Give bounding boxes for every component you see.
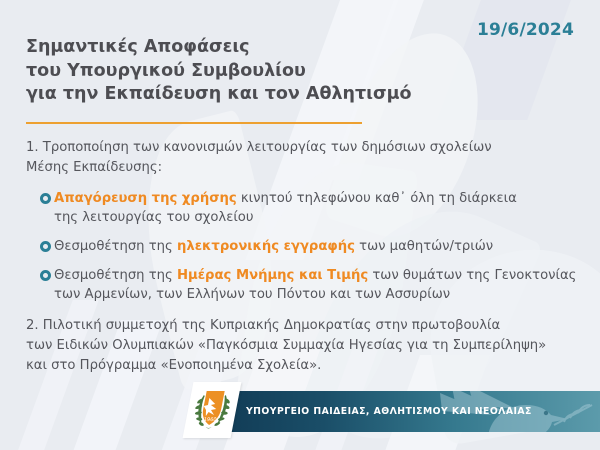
ring-bullet-icon (40, 241, 51, 252)
publication-date: 19/6/2024 (477, 20, 574, 40)
title-divider (26, 122, 362, 124)
bullet-list: Απαγόρευση της χρήσης κινητού τηλεφώνου … (26, 189, 578, 304)
item-1-line-2: Μέσης Εκπαίδευσης: (26, 158, 578, 178)
ring-bullet-icon (40, 193, 51, 204)
item-1-paragraph: 1. Τροποποίηση των κανονισμών λειτουργία… (26, 138, 578, 178)
footer: ΥΠΟΥΡΓΕΙΟ ΠΑΙΔΕΙΑΣ, ΑΘΛΗΤΙΣΜΟΥ ΚΑΙ ΝΕΟΛΑ… (0, 380, 600, 450)
item-2-paragraph: 2. Πιλοτική συμμετοχή της Κυπριακής Δημο… (26, 316, 578, 376)
bullet-1-line-1: Απαγόρευση της χρήσης κινητού τηλεφώνου … (54, 189, 578, 208)
bullet-1-text: Απαγόρευση της χρήσης κινητού τηλεφώνου … (54, 189, 578, 227)
ring-bullet-icon (40, 270, 51, 281)
bullet-1-highlight: Απαγόρευση της χρήσης (54, 191, 237, 206)
bullet-2-highlight: ηλεκτρονικής εγγραφής (177, 239, 355, 254)
list-item: Απαγόρευση της χρήσης κινητού τηλεφώνου … (26, 189, 578, 227)
item-2-line-1: 2. Πιλοτική συμμετοχή της Κυπριακής Δημο… (26, 316, 578, 336)
bullet-3-text: Θεσμοθέτηση της Ημέρας Μνήμης και Τιμής … (54, 266, 578, 304)
bullet-3-pre: Θεσμοθέτηση της (54, 268, 177, 283)
svg-text:1960: 1960 (203, 417, 217, 423)
bullet-1-rest: κινητού τηλεφώνου καθ᾽ όλη τη διάρκεια (237, 191, 517, 206)
bullet-3-rest: των θυμάτων της Γενοκτονίας (368, 268, 576, 283)
bullet-1-line-2: της λειτουργίας του σχολείου (54, 208, 578, 227)
content-body: 1. Τροποποίηση των κανονισμών λειτουργία… (26, 138, 578, 376)
ministry-name: ΥΠΟΥΡΓΕΙΟ ΠΑΙΔΕΙΑΣ, ΑΘΛΗΤΙΣΜΟΥ ΚΑΙ ΝΕΟΛΑ… (246, 391, 532, 432)
bullet-3-line-2: των Αρμενίων, των Ελλήνων του Πόντου και… (54, 285, 578, 304)
title-line-2: του Υπουργικού Συμβουλίου (26, 60, 446, 84)
bullet-2-text: Θεσμοθέτηση της ηλεκτρονικής εγγραφής τω… (54, 237, 578, 256)
bullet-3-line-1: Θεσμοθέτηση της Ημέρας Μνήμης και Τιμής … (54, 266, 578, 285)
item-1-line-1: 1. Τροποποίηση των κανονισμών λειτουργία… (26, 138, 578, 158)
bullet-2-line-1: Θεσμοθέτηση της ηλεκτρονικής εγγραφής τω… (54, 237, 578, 256)
page-title: Σημαντικές Αποφάσεις του Υπουργικού Συμβ… (26, 36, 446, 107)
bullet-2-rest: των μαθητών/τριών (355, 239, 493, 254)
bullet-3-highlight: Ημέρας Μνήμης και Τιμής (177, 268, 368, 283)
item-2-line-2: των Ειδικών Ολυμπιακών «Παγκόσμια Συμμαχ… (26, 336, 578, 356)
announcement-card: 19/6/2024 Σημαντικές Αποφάσεις του Υπουρ… (0, 0, 600, 450)
list-item: Θεσμοθέτηση της ηλεκτρονικής εγγραφής τω… (26, 237, 578, 256)
bullet-2-pre: Θεσμοθέτηση της (54, 239, 177, 254)
ministry-banner: ΥΠΟΥΡΓΕΙΟ ΠΑΙΔΕΙΑΣ, ΑΘΛΗΤΙΣΜΟΥ ΚΑΙ ΝΕΟΛΑ… (216, 391, 600, 432)
list-item: Θεσμοθέτηση της Ημέρας Μνήμης και Τιμής … (26, 266, 578, 304)
item-2-line-3: και στο Πρόγραμμα «Ενοποιημένα Σχολεία». (26, 356, 578, 376)
title-line-3: για την Εκπαίδευση και τον Αθλητισμό (26, 83, 446, 107)
title-line-1: Σημαντικές Αποφάσεις (26, 36, 446, 60)
